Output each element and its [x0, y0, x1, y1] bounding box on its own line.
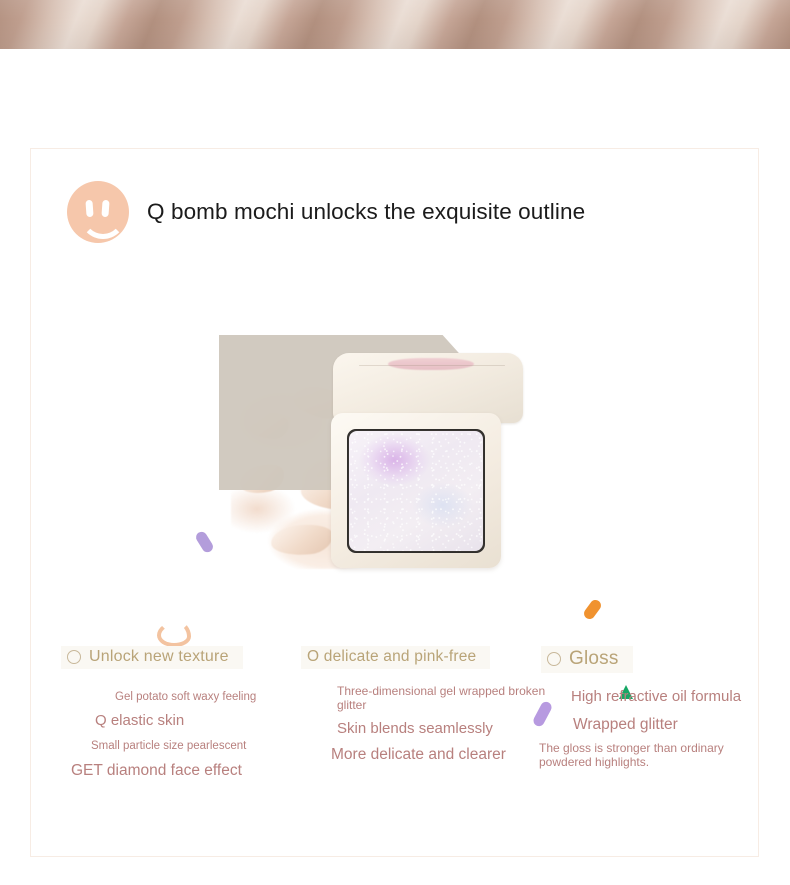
feature-heading-2-label: O delicate and pink-free	[307, 648, 476, 666]
feature-1-line-1: Gel potato soft waxy feeling	[115, 691, 256, 703]
circle-bullet-icon	[67, 650, 81, 664]
purple-capsule-left	[194, 530, 215, 554]
title-row: Q bomb mochi unlocks the exquisite outli…	[67, 181, 585, 243]
feature-columns: Unlock new texture Gel potato soft waxy …	[31, 646, 760, 826]
product-feature-card: Q bomb mochi unlocks the exquisite outli…	[30, 148, 759, 857]
peach-squiggle	[157, 621, 191, 647]
feature-heading-2: O delicate and pink-free	[301, 646, 490, 669]
smiley-mouth	[80, 209, 126, 239]
feature-column-unlock-new-texture: Unlock new texture Gel potato soft waxy …	[61, 646, 311, 669]
orange-capsule	[582, 598, 603, 621]
compact-base	[331, 413, 501, 568]
feature-heading-1-label: Unlock new texture	[89, 648, 229, 666]
circle-bullet-icon	[547, 652, 561, 666]
feature-heading-1: Unlock new texture	[61, 646, 243, 669]
feature-3-line-2: Wrapped glitter	[573, 716, 678, 734]
banner-sheen	[0, 0, 790, 49]
feature-column-gloss: Gloss High refractive oil formula Wrappe…	[541, 646, 760, 673]
page-title: Q bomb mochi unlocks the exquisite outli…	[147, 199, 585, 225]
feature-3-line-3: The gloss is stronger than ordinary powd…	[539, 741, 775, 769]
lid-seam-line	[359, 365, 505, 366]
feature-2-line-3: More delicate and clearer	[331, 746, 506, 764]
feature-column-delicate-and-pink-free: O delicate and pink-free Three-dimension…	[301, 646, 551, 669]
feature-2-line-1: Three-dimensional gel wrapped broken gli…	[337, 684, 547, 712]
lid-pink-accent	[388, 358, 474, 370]
pan-glitter-sparkle	[349, 431, 483, 551]
decorative-banner	[0, 0, 790, 49]
feature-2-line-2: Skin blends seamlessly	[337, 720, 493, 737]
feature-heading-3-label: Gloss	[569, 648, 619, 670]
compact-product	[331, 353, 496, 568]
feature-1-line-3: Small particle size pearlescent	[91, 740, 246, 752]
smiley-face-icon	[67, 181, 129, 243]
pan-frame	[347, 429, 485, 553]
highlighter-pan	[349, 431, 483, 551]
feature-heading-3: Gloss	[541, 646, 633, 673]
feature-3-line-1: High refractive oil formula	[571, 688, 741, 705]
feature-1-line-4: GET diamond face effect	[71, 762, 242, 780]
feature-1-line-2: Q elastic skin	[95, 712, 184, 729]
product-stage	[31, 299, 760, 639]
